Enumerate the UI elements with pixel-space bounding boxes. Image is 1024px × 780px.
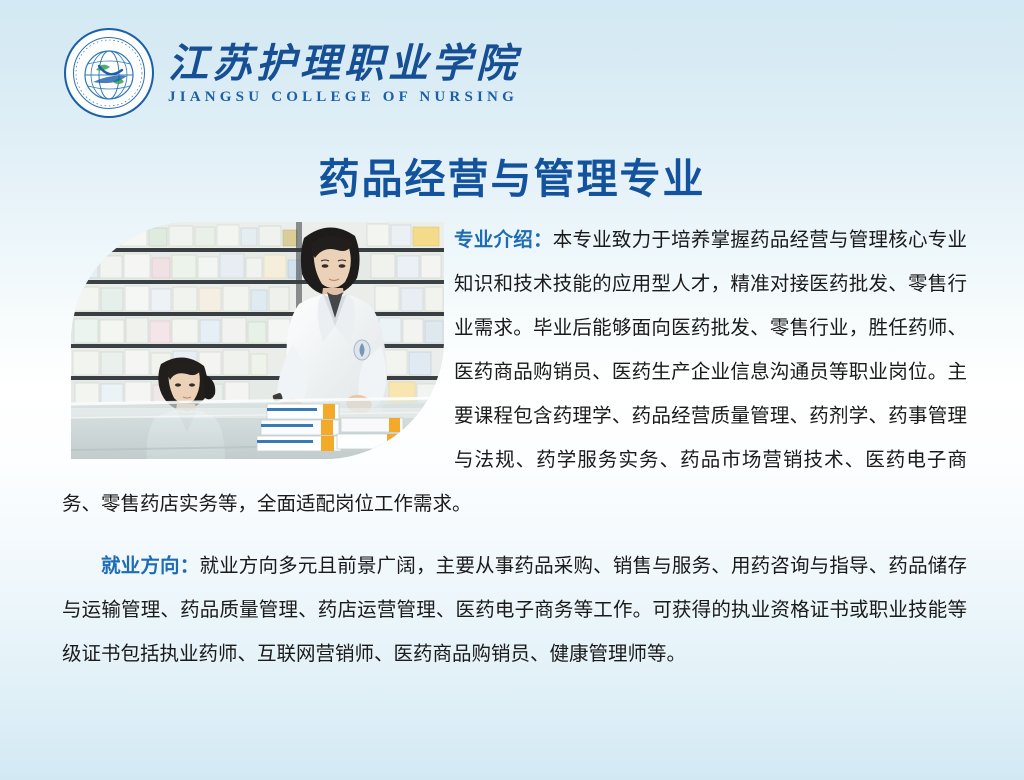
photo-text-wrap-spacer	[62, 218, 454, 463]
page-title: 药品经营与管理专业	[0, 145, 1024, 205]
section-jobs: 就业方向：就业方向多元且前景广阔，主要从事药品采购、销售与服务、用药咨询与指导、…	[62, 544, 967, 676]
school-emblem-icon	[64, 28, 154, 118]
school-logo-header: 江苏护理职业学院 JIANGSU COLLEGE OF NURSING	[64, 28, 520, 118]
section-jobs-label: 就业方向：	[101, 555, 199, 577]
school-name-cn: 江苏护理职业学院	[168, 42, 520, 86]
section-intro-label: 专业介绍：	[454, 229, 553, 251]
poster-page: 江苏护理职业学院 JIANGSU COLLEGE OF NURSING 药品经营…	[0, 0, 1024, 780]
school-wordmark: 江苏护理职业学院 JIANGSU COLLEGE OF NURSING	[168, 42, 520, 106]
content-body: 专业介绍：本专业致力于培养掌握药品经营与管理核心专业知识和技术技能的应用型人才，…	[62, 218, 967, 676]
school-name-en: JIANGSU COLLEGE OF NURSING	[168, 89, 520, 106]
section-intro: 专业介绍：本专业致力于培养掌握药品经营与管理核心专业知识和技术技能的应用型人才，…	[62, 218, 967, 526]
